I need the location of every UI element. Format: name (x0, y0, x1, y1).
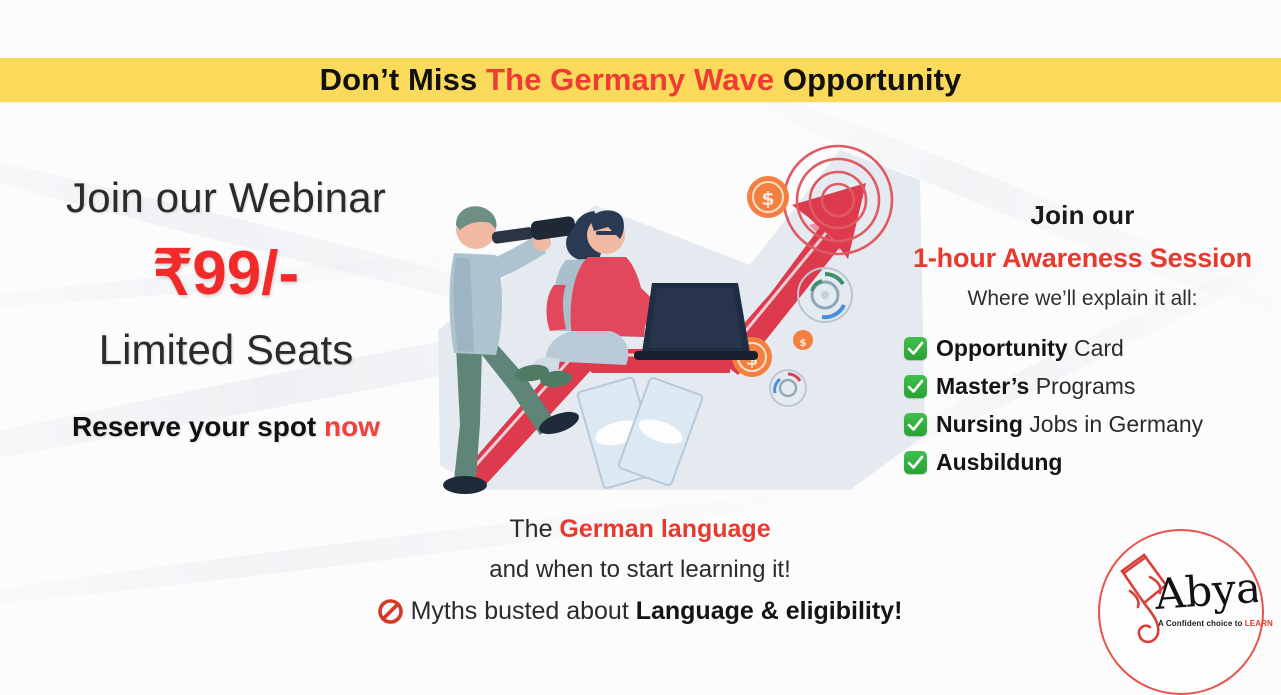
promo-poster: Don’t Miss The Germany Wave Opportunity … (0, 0, 1281, 695)
headline-part1: Don’t Miss (320, 62, 486, 97)
headline-part2: Opportunity (774, 62, 961, 97)
dollar-coin-3: $ (793, 330, 813, 350)
reserve-cta: Reserve your spot now (26, 411, 426, 443)
list-item-bold: Nursing (936, 411, 1023, 437)
headline-highlight: The Germany Wave (486, 62, 774, 97)
white-check-mark-icon (904, 337, 927, 360)
white-check-mark-icon (904, 413, 927, 436)
myths-bold: Language & eligibility! (636, 597, 903, 625)
myths-prefix: Myths busted about (411, 597, 636, 625)
list-item: Nursing Jobs in Germany (904, 411, 1275, 438)
list-item-rest: Programs (1029, 373, 1135, 399)
limited-seats-label: Limited Seats (26, 327, 426, 373)
laptop-icon (634, 283, 758, 360)
white-check-mark-icon (904, 451, 927, 474)
bottom-text-block: The German language and when to start le… (300, 515, 980, 626)
reserve-now: now (324, 411, 380, 442)
dollar-coin-1: $ (747, 176, 789, 218)
start-learning-line: and when to start learning it! (300, 556, 980, 584)
headline-band: Don’t Miss The Germany Wave Opportunity (0, 58, 1281, 102)
abyaas-logo: Abyaas A Confident choice to LEARN (1098, 529, 1264, 695)
list-item: Opportunity Card (904, 335, 1275, 362)
german-language-line: The German language (300, 515, 980, 544)
join-webinar-title: Join our Webinar (26, 175, 426, 221)
svg-text:$: $ (761, 188, 774, 210)
prohibited-icon (378, 599, 403, 624)
benefits-checklist: Opportunity Card Master’s Programs Nursi… (890, 335, 1275, 476)
white-check-mark-icon (904, 375, 927, 398)
logo-tagline-highlight: LEARN (1245, 619, 1273, 628)
join-our-label: Join our (890, 200, 1275, 231)
myths-busted-line: Myths busted about Language & eligibilit… (300, 597, 980, 626)
list-item-rest: Jobs in Germany (1023, 411, 1203, 437)
german-language-highlight: German language (559, 515, 770, 543)
list-item: Master’s Programs (904, 373, 1275, 400)
right-column: Join our 1-hour Awareness Session Where … (890, 200, 1275, 487)
list-item-bold: Opportunity (936, 335, 1068, 361)
list-item: Ausbildung (904, 449, 1275, 476)
list-item-bold: Ausbildung (936, 449, 1062, 475)
german-language-prefix: The (509, 515, 559, 543)
logo-tagline: A Confident choice to LEARN (1158, 619, 1273, 628)
growth-arrow-illustration: $ $ $ $ (420, 135, 940, 525)
list-item-bold: Master’s (936, 373, 1029, 399)
headline-text: Don’t Miss The Germany Wave Opportunity (320, 62, 962, 98)
logo-tagline-prefix: A Confident choice to (1158, 619, 1245, 628)
session-title: 1-hour Awareness Session (890, 243, 1275, 274)
list-item-rest: Card (1068, 335, 1124, 361)
reserve-prefix: Reserve your spot (72, 411, 324, 442)
svg-text:$: $ (800, 338, 807, 349)
left-column: Join our Webinar ₹99/- Limited Seats Res… (26, 175, 426, 443)
price-label: ₹99/- (26, 243, 426, 305)
explain-label: Where we’ll explain it all: (890, 287, 1275, 311)
logo-wordmark: Abyaas (1152, 559, 1258, 619)
